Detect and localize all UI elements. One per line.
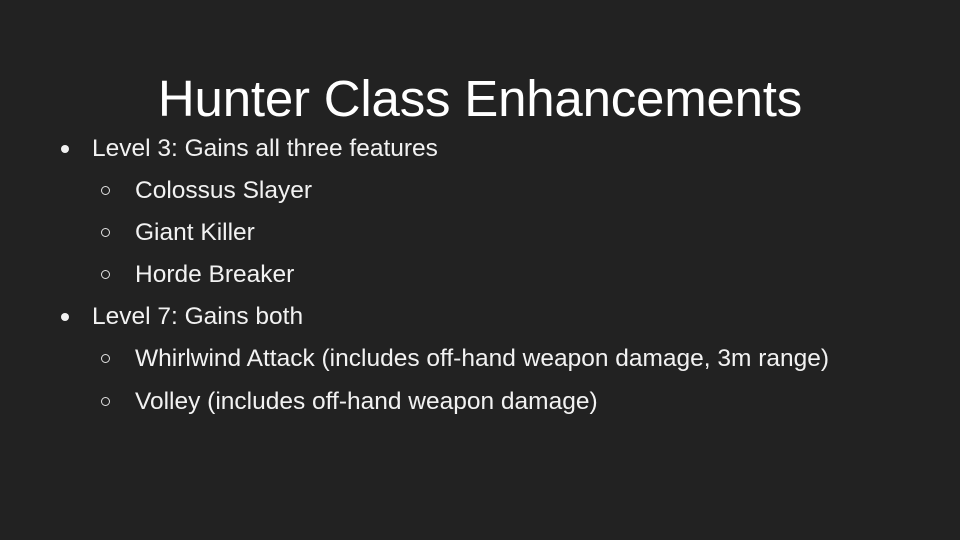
bullet-item-level-2: Colossus Slayer — [0, 170, 900, 212]
hollow-circle-bullet-icon — [101, 381, 123, 423]
bullet-item-label: Level 3: Gains all three features — [92, 128, 792, 170]
slide-bullet-list: Level 3: Gains all three features Coloss… — [0, 128, 900, 423]
slide-title: Hunter Class Enhancements — [0, 70, 960, 127]
hollow-circle-bullet-icon — [101, 212, 123, 254]
bullet-item-level-2: Volley (includes off-hand weapon damage) — [0, 381, 900, 423]
hollow-circle-bullet-icon — [101, 338, 123, 380]
bullet-item-level-1: Level 7: Gains both — [0, 296, 900, 338]
hollow-circle-bullet-icon — [101, 170, 123, 212]
bullet-item-level-1: Level 3: Gains all three features — [0, 128, 900, 170]
bullet-item-level-2: Horde Breaker — [0, 254, 900, 296]
bullet-item-label: Level 7: Gains both — [92, 296, 792, 338]
bullet-item-label: Giant Killer — [135, 212, 835, 254]
bullet-item-label: Volley (includes off-hand weapon damage) — [135, 381, 835, 423]
bullet-item-level-2: Whirlwind Attack (includes off-hand weap… — [0, 338, 900, 380]
presentation-slide: Hunter Class Enhancements Level 3: Gains… — [0, 0, 960, 540]
bullet-item-label: Horde Breaker — [135, 254, 835, 296]
filled-disc-bullet-icon — [61, 128, 83, 170]
bullet-item-level-2: Giant Killer — [0, 212, 900, 254]
bullet-item-label: Whirlwind Attack (includes off-hand weap… — [135, 338, 835, 380]
bullet-item-label: Colossus Slayer — [135, 170, 835, 212]
hollow-circle-bullet-icon — [101, 254, 123, 296]
filled-disc-bullet-icon — [61, 296, 83, 338]
